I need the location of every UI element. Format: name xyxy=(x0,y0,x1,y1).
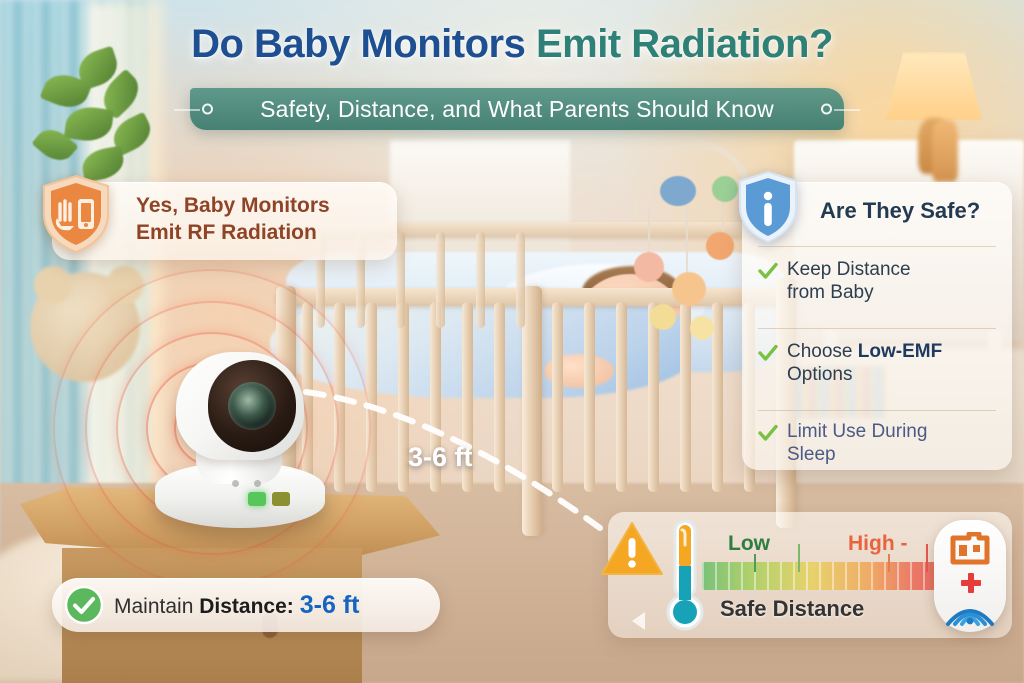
safety-item-1-label: Keep Distance from Baby xyxy=(787,258,911,304)
banner-dot-left-icon xyxy=(202,104,213,115)
rf-card-text: Yes, Baby Monitors Emit RF Radiation xyxy=(136,193,330,247)
mobile-toy-flower xyxy=(672,272,706,306)
infographic-canvas: 3-6 ft Do Baby Monitors Emit Radiation? … xyxy=(0,0,1024,683)
title-part-1: Do Baby Monitors xyxy=(191,22,525,66)
potted-plant xyxy=(30,45,170,195)
mobile-toy-star xyxy=(690,316,714,340)
rf-card-line-2: Emit RF Radiation xyxy=(136,220,330,247)
crib-bar-back xyxy=(516,232,525,328)
crib-bar-back xyxy=(436,232,445,328)
mobile-toy-star xyxy=(712,176,738,202)
distance-pill: Maintain Distance:3-6 ft xyxy=(52,578,440,632)
distance-arc-label: 3-6 ft xyxy=(408,442,473,473)
page-title: Do Baby Monitors Emit Radiation? xyxy=(0,22,1024,67)
gauge-caption: Safe Distance xyxy=(720,596,864,622)
emf-level-bar xyxy=(702,562,962,590)
check-icon xyxy=(758,343,778,363)
safety-item-2[interactable]: Choose Low-EMF Options xyxy=(758,340,1004,386)
crib-bar xyxy=(648,302,659,492)
shield-info-icon xyxy=(736,170,800,244)
safety-panel-title: Are They Safe? xyxy=(820,198,980,224)
check-circle-icon xyxy=(64,585,104,625)
rf-radiation-card: Yes, Baby Monitors Emit RF Radiation xyxy=(52,182,397,260)
check-icon xyxy=(758,423,778,443)
camera-lens xyxy=(228,382,276,430)
warning-triangle-icon xyxy=(600,520,664,578)
camera-led-green xyxy=(248,492,266,506)
crib-bar-back xyxy=(396,232,405,328)
camera-led-amber xyxy=(272,492,290,506)
safety-panel: Are They Safe? Keep Distance from Baby C… xyxy=(742,182,1012,470)
safety-item-2-label: Choose Low-EMF Options xyxy=(787,340,942,386)
device-screen-icon xyxy=(950,532,990,566)
mobile-string xyxy=(686,206,688,280)
mid-tick xyxy=(798,544,800,572)
subtitle-banner: Safety, Distance, and What Parents Shoul… xyxy=(190,88,844,130)
check-icon xyxy=(758,261,778,281)
safety-item-1[interactable]: Keep Distance from Baby xyxy=(758,258,1004,304)
rf-card-line-1: Yes, Baby Monitors xyxy=(136,193,330,220)
low-tick xyxy=(754,554,756,572)
high-tick xyxy=(888,554,890,572)
safety-item-3-label: Limit Use During Sleep xyxy=(787,420,927,466)
gauge-high-label: High - xyxy=(848,532,907,556)
mobile-toy-flower xyxy=(634,252,664,282)
emf-ticks xyxy=(702,562,962,590)
subtitle-text: Safety, Distance, and What Parents Shoul… xyxy=(260,96,774,123)
max-tick xyxy=(926,544,928,572)
decor-bottle xyxy=(932,120,958,182)
pill-prefix: Maintain xyxy=(114,595,199,618)
mobile-toy-star xyxy=(650,304,676,330)
medical-cross-icon xyxy=(960,572,982,594)
camera-sensor-dot xyxy=(254,480,261,487)
pill-value: 3-6 ft xyxy=(300,591,360,619)
wifi-signal-icon xyxy=(942,594,998,628)
distance-pill-text: Maintain Distance:3-6 ft xyxy=(114,591,359,620)
safe-distance-gauge: Low High - Safe Distance xyxy=(608,512,1012,638)
mobile-toy-flower xyxy=(706,232,734,260)
banner-dot-right-icon xyxy=(821,104,832,115)
safety-item-3[interactable]: Limit Use During Sleep xyxy=(758,420,1004,466)
pill-bold: Distance: xyxy=(199,595,294,618)
mobile-toy-cloud xyxy=(660,176,696,206)
gauge-low-label: Low xyxy=(728,532,770,556)
title-part-2: Emit Radiation? xyxy=(536,22,833,66)
monitor-device-icon xyxy=(934,520,1006,632)
safety-panel-header: Are They Safe? xyxy=(742,182,1012,244)
crib-bar-back xyxy=(476,232,485,328)
shield-phone-radiation-icon xyxy=(40,174,112,254)
camera-sensor-dot xyxy=(232,480,239,487)
